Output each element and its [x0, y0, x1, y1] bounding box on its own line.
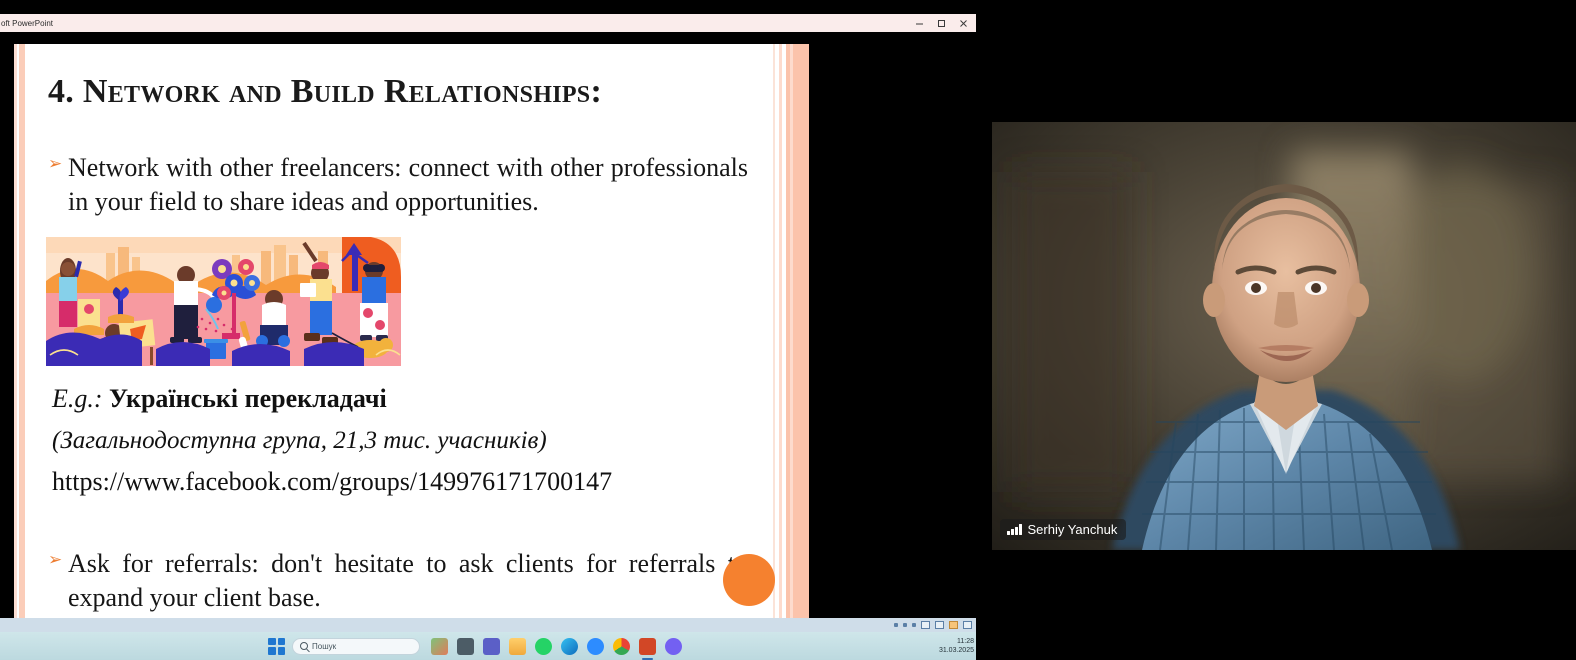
participant-name-badge: Serhiy Yanchuk: [1000, 519, 1126, 540]
slide-border-stripe-right-3: [786, 44, 790, 632]
slide-border-stripe-right-7: [773, 44, 775, 632]
chrome-icon[interactable]: [613, 638, 630, 655]
minimize-icon[interactable]: [908, 14, 930, 32]
signal-bars-icon: [1007, 524, 1022, 535]
slide-border-stripe-right-4: [782, 44, 786, 632]
powerpoint-status-bar: [0, 618, 976, 632]
example-group-url[interactable]: https://www.facebook.com/groups/14997617…: [52, 466, 782, 497]
clock-time: 11:28: [939, 637, 974, 646]
taskview-icon[interactable]: [457, 638, 474, 655]
taskbar-center-group: Пошук: [268, 632, 682, 660]
view-normal-icon[interactable]: [921, 621, 930, 629]
taskbar-system-tray: 11:28 31.03.2025: [939, 632, 974, 660]
whatsapp-icon[interactable]: [535, 638, 552, 655]
screen: oft PowerPoint: [0, 0, 1576, 660]
close-icon[interactable]: [952, 14, 974, 32]
powerpoint-icon[interactable]: [639, 638, 656, 655]
slide-border-stripe-right-6: [775, 44, 779, 632]
slide-title: 4. Network and Build Relationships:: [48, 74, 768, 110]
zoom-slider-handle[interactable]: [903, 623, 907, 627]
slide-border-stripe-left-1: [14, 44, 17, 632]
taskbar-icons: [431, 638, 682, 655]
participant-name: Serhiy Yanchuk: [1028, 522, 1118, 537]
slide-illustration[interactable]: [46, 237, 401, 366]
slide-bullet-1: ➢ Network with other freelancers: connec…: [48, 151, 764, 219]
photos-icon[interactable]: [431, 638, 448, 655]
search-input[interactable]: Пошук: [292, 638, 420, 655]
slide-bullet-1-text: Network with other freelancers: connect …: [68, 151, 748, 219]
view-reading-icon[interactable]: [949, 621, 958, 629]
powerpoint-window: oft PowerPoint: [0, 14, 976, 632]
slide[interactable]: 4. Network and Build Relationships: ➢ Ne…: [14, 44, 809, 632]
edge-icon[interactable]: [561, 638, 578, 655]
search-placeholder: Пошук: [312, 642, 336, 651]
video-tile[interactable]: Serhiy Yanchuk: [992, 122, 1576, 550]
teams-icon[interactable]: [483, 638, 500, 655]
example-group-name: Українські перекладачі: [109, 384, 387, 413]
viber-icon[interactable]: [665, 638, 682, 655]
restore-icon[interactable]: [930, 14, 952, 32]
slide-border-stripe-left-4: [25, 44, 28, 632]
view-slideshow-icon[interactable]: [963, 621, 972, 629]
slide-bullet-2: ➢ Ask for referrals: don't hesitate to a…: [48, 547, 764, 615]
video-background: [992, 122, 1576, 550]
example-group-detail: (Загальнодоступна група, 21,3 тис. учасн…: [52, 426, 772, 456]
windows-taskbar: Пошук 11:28 31.03.2025: [0, 632, 976, 660]
zoom-icon[interactable]: [587, 638, 604, 655]
zoom-in-icon[interactable]: [912, 623, 916, 627]
view-sorter-icon[interactable]: [935, 621, 944, 629]
clock-date: 31.03.2025: [939, 646, 974, 655]
clock[interactable]: 11:28 31.03.2025: [939, 637, 974, 656]
decorative-orange-circle: [723, 554, 775, 606]
bullet-arrow-icon: ➢: [48, 151, 68, 174]
slide-border-stripe-right-1: [793, 44, 809, 632]
search-icon: [300, 642, 308, 650]
window-title: oft PowerPoint: [0, 19, 53, 28]
example-line: E.g.: Українські перекладачі: [52, 383, 752, 414]
window-controls: [908, 14, 974, 32]
slide-bullet-2-text: Ask for referrals: don't hesitate to ask…: [68, 547, 748, 615]
window-titlebar[interactable]: oft PowerPoint: [0, 14, 976, 32]
video-panel: Serhiy Yanchuk: [976, 0, 1576, 660]
file-explorer-icon[interactable]: [509, 638, 526, 655]
slide-border-stripe-right-5: [779, 44, 782, 632]
slide-area: 4. Network and Build Relationships: ➢ Ne…: [0, 32, 976, 632]
bullet-arrow-icon: ➢: [48, 547, 68, 570]
zoom-out-icon[interactable]: [894, 623, 898, 627]
start-icon[interactable]: [268, 638, 285, 655]
example-prefix: E.g.:: [52, 384, 109, 413]
slide-border-stripe-right-2: [790, 44, 793, 632]
